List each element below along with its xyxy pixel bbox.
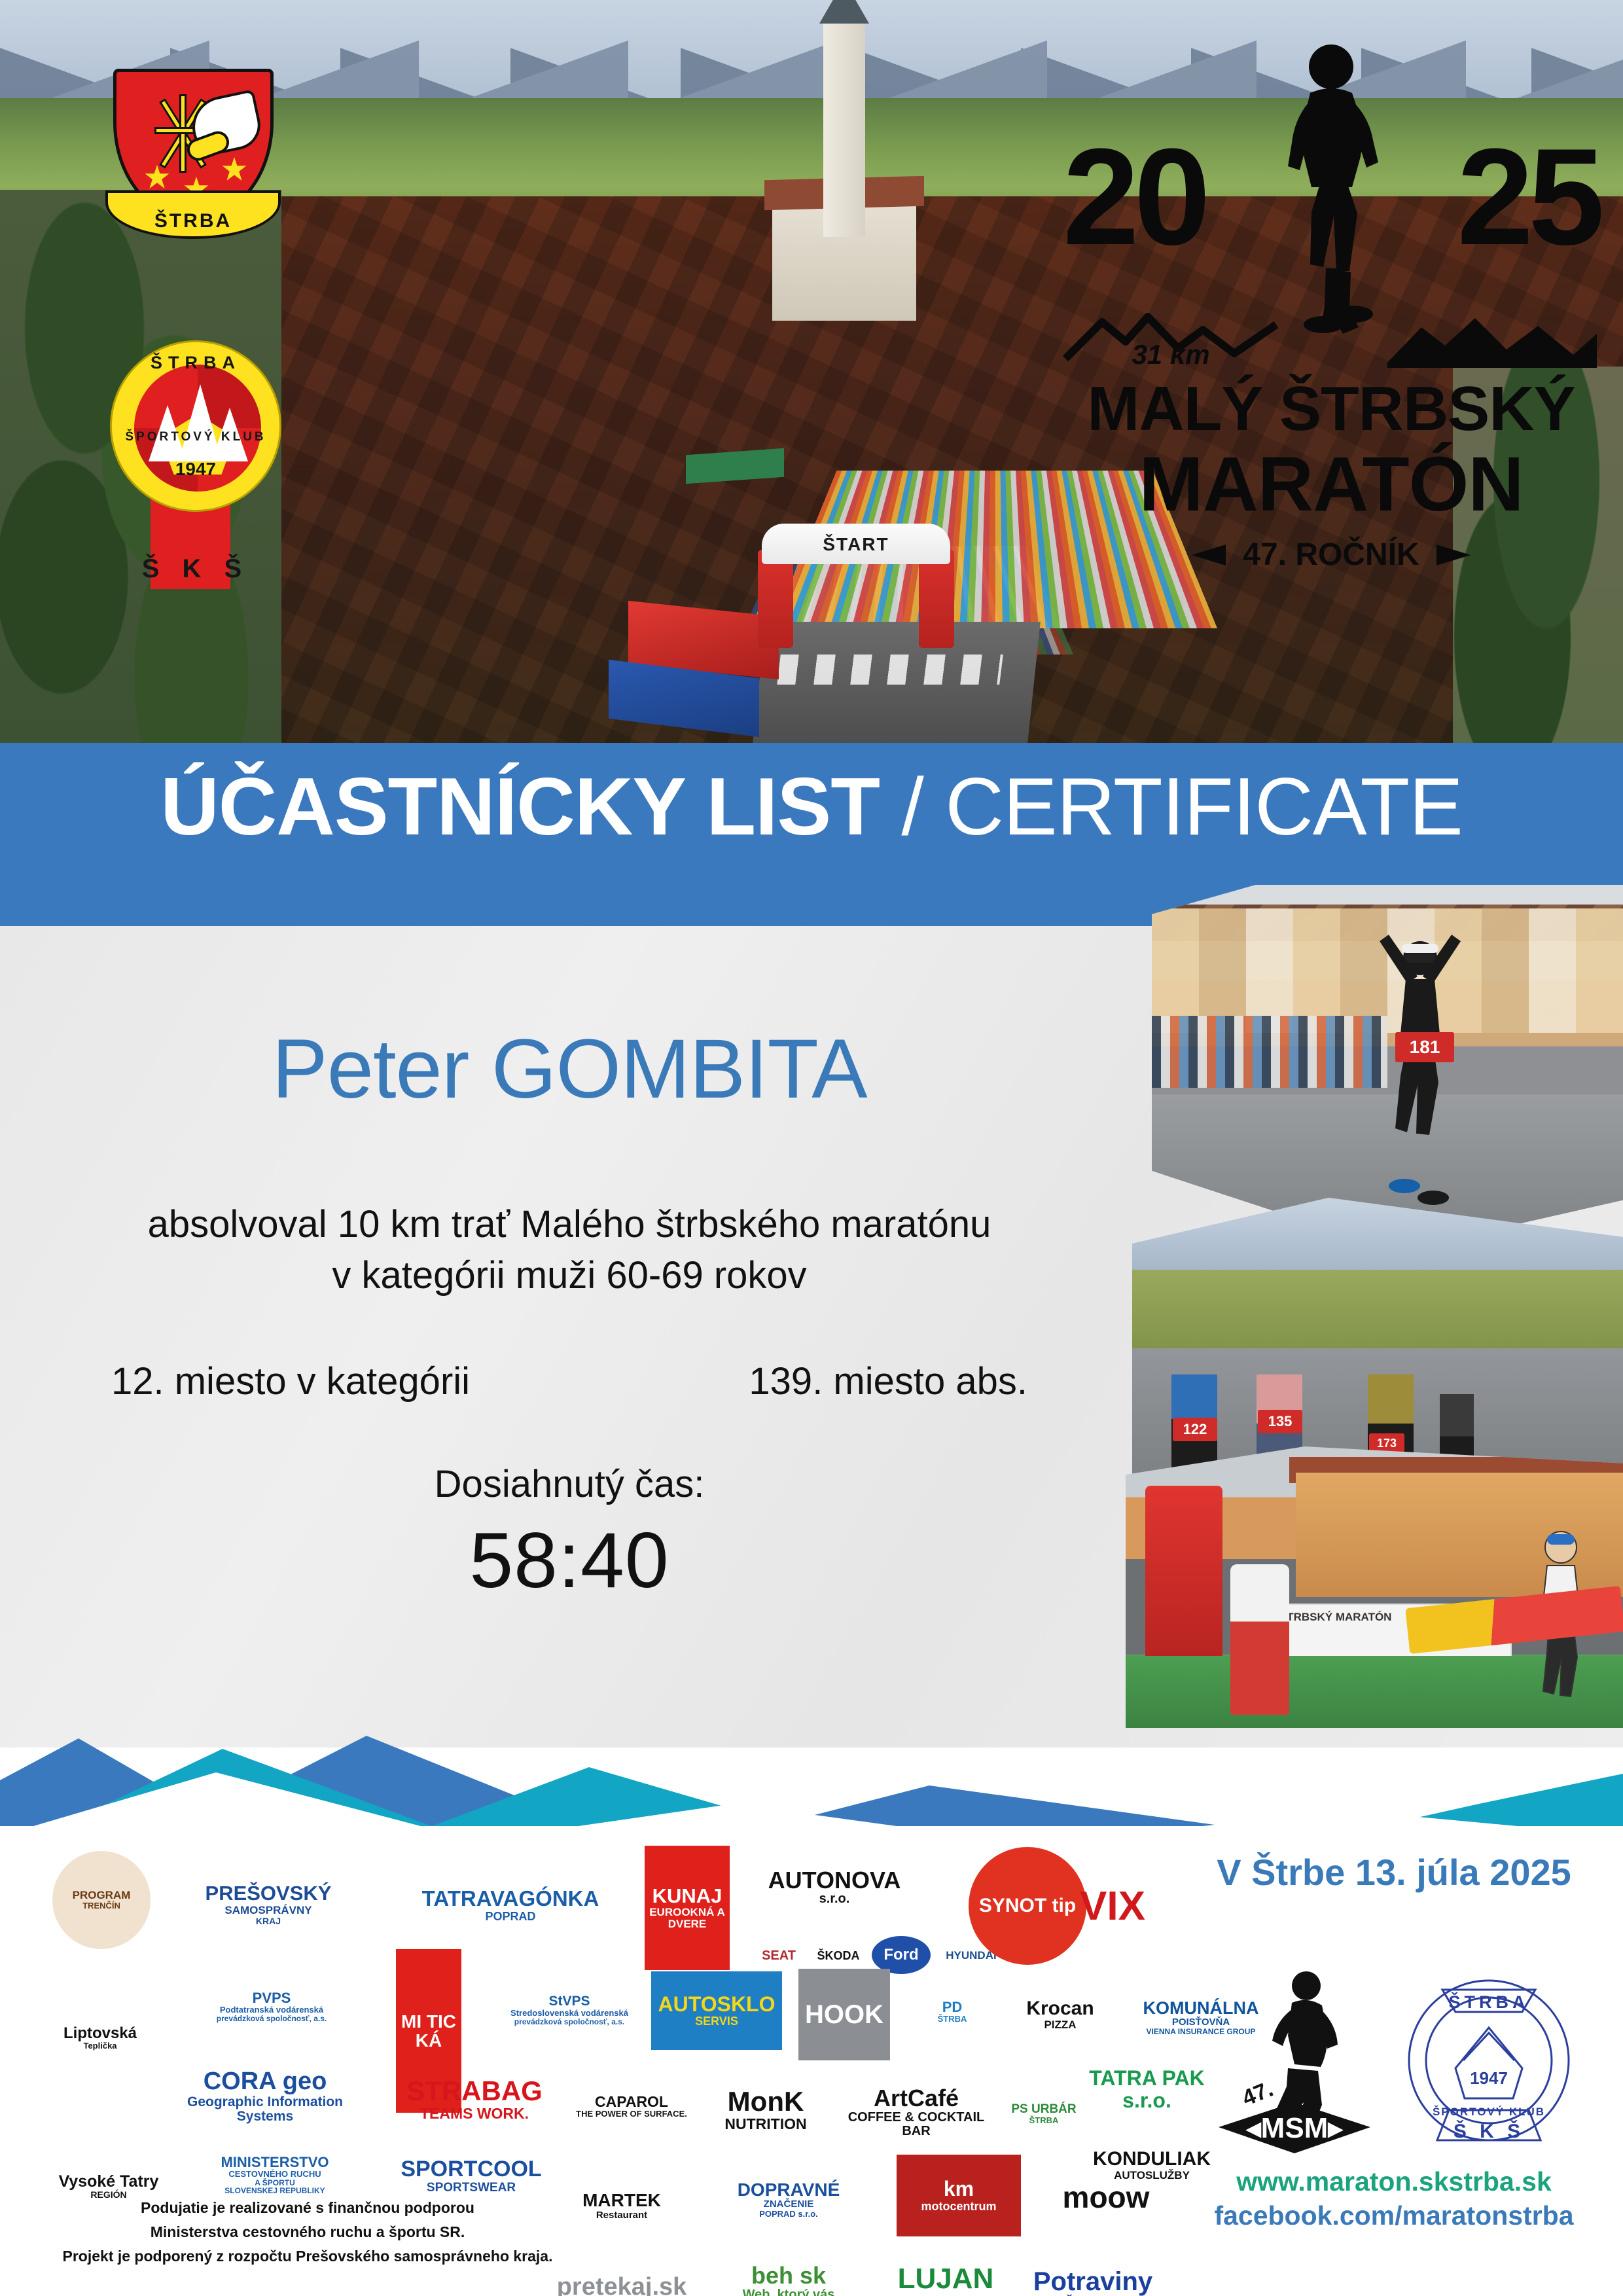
sponsor-line: beh sk [713,2263,864,2288]
sponsor-line: CORA geo [157,2069,373,2095]
sponsor-line: ArtCafé [847,2086,985,2111]
page-title-separator: / [880,762,945,852]
sponsor-logo-vix: VIX [1060,1844,1165,1969]
arch-leg-left [758,550,793,648]
star-icon [221,157,247,183]
sponsor-logo-program-trencin: PROGRAMTRENČÍN [52,1851,151,1949]
event-edition-label: 47. ROČNÍK [1243,537,1419,573]
sponsor-line: EUROOKNÁ A DVERE [645,1907,730,1930]
mountain-divider-shapes [0,1676,1623,1836]
svg-text:47.: 47. [1239,2076,1277,2111]
sponsor-line: CESTOVNÉHO RUCHU [221,2170,329,2179]
runner-bib-number: 122 [1173,1418,1217,1441]
distances: 31 km 10 km [1063,301,1599,380]
sponsor-line: CAPAROL [576,2094,687,2109]
sponsor-logo-monk-nutrition: MonKNUTRITION [700,2067,831,2152]
sponsor-line: motocentrum [921,2200,996,2213]
sponsor-line: km [921,2178,996,2200]
sponsor-line: Vysoké Tatry [59,2173,159,2190]
club-top-text: ŠTRBA [112,353,279,373]
sponsor-line: THE POWER OF SURFACE. [576,2109,687,2119]
sponsor-logo-artcafe: ArtCaféCOFFEE & COCKTAIL BAR [847,2063,985,2161]
arch-top: ŠTART [762,524,950,564]
support-note-line-1: Podujatie je realizované s finančnou pod… [59,2196,556,2220]
sponsor-line: SPORTSWEAR [401,2181,541,2195]
page-title-thin: CERTIFICATE [945,762,1462,852]
sponsor-line: TEAMS WORK. [406,2106,543,2121]
page-title-bold: ÚČASTNÍCKY LIST [160,762,880,852]
club-abbrev: Š K Š [110,554,281,584]
description-line-1: absolvoval 10 km trať Malého štrbského m… [0,1199,1139,1250]
support-note-line-2: Ministerstva cestovného ruchu a športu S… [59,2220,556,2244]
sponsor-logo-hook: HOOK [798,1969,890,2060]
msm-logo-icon: ◂MSM▸ 47. [1216,1964,1373,2153]
sponsor-line: HYUNDAI [946,1950,996,1962]
sponsor-logo-strabag: STRABAGTEAMS WORK. [393,2063,556,2135]
certificate-text-block: Peter GOMBITA absolvoval 10 km trať Malé… [0,926,1139,1605]
sponsor-line: SEAT [762,1949,796,1963]
sponsor-line: STRABAG [406,2077,543,2106]
sponsor-line: ŠKODA [817,1950,859,1962]
certificate-description: absolvoval 10 km trať Malého štrbského m… [0,1199,1139,1300]
sks-club-emblem-icon: ŠTRBA 1947 ŠPORTOVÝ KLUB Š K Š [110,340,281,589]
sponsor-line: AUTONOVA [768,1868,901,1893]
sponsor-line: DOPRAVNÉ [738,2180,840,2199]
sponsor-logo-pd-strba: PDŠTRBA [903,1962,1001,2060]
spectators [1152,1016,1387,1088]
club-bottom-text: ŠPORTOVÝ KLUB [112,430,279,444]
crosswalk [777,655,1003,685]
event-edition: 47. ROČNÍK [1063,537,1599,573]
sponsor-line: NUTRITION [724,2116,806,2132]
sponsor-logo-krocan-pizza: KrocanPIZZA [1008,1962,1113,2067]
sponsor-line: Ford [883,1946,918,1963]
svg-text:◂MSM▸: ◂MSM▸ [1245,2112,1344,2144]
website-link[interactable]: www.maraton.skstrba.sk [1185,2166,1603,2197]
sponsor-line: SERVIS [658,2015,776,2028]
photo-finish-runner: 181 [1152,885,1623,1251]
time-label: Dosiahnutý čas: [0,1462,1139,1506]
sponsor-line: PVPS [217,1990,327,2005]
sponsor-line: MINISTERSTVO [221,2155,329,2170]
svg-text:1947: 1947 [1470,2068,1508,2088]
sponsor-logo-corageo: CORA geoGeographic Information Systems [157,2060,373,2132]
sponsor-line: prevádzková spoločnosť, a.s. [217,2015,327,2023]
sponsor-line: PROGRAM [73,1890,131,1901]
sponsor-logo-autonova: AUTONOVAs.r.o. [749,1851,919,1923]
description-line-2: v kategórii muži 60-69 rokov [0,1250,1139,1301]
club-stamp-icon: ŠTRBA 1947 ŠPORTOVÝ KLUB Š K Š [1400,1964,1577,2153]
sponsor-line: PREŠOVSKÝ [205,1883,332,1905]
distance-long-label: 31 km [1132,339,1209,370]
start-label: ŠTART [762,534,950,555]
svg-text:ŠTRBA: ŠTRBA [1449,1992,1529,2012]
crest-ribbon: ŠTRBA [105,190,281,239]
place-category: 12. miesto v kategórii [111,1359,470,1403]
start-arch: ŠTART [758,524,954,648]
facebook-link[interactable]: facebook.com/maratonstrba [1185,2200,1603,2231]
photo-collage: 181 122 135 173 MALÝ ŠTRBSKÝ MARATÓN [1126,870,1623,1734]
sponsor-logo-liptovska-teplicka: LiptovskáTeplička [51,1962,149,2113]
runner-bib-number: 181 [1395,1032,1454,1062]
sponsor-logo-km-motocentrum: kmmotocentrum [897,2155,1021,2236]
sponsor-line: TATRAVAGÓNKA [422,1888,599,1910]
footer: PROGRAMTRENČÍNPREŠOVSKÝSAMOSPRÁVNYKRAJTA… [0,1826,1623,2296]
place-absolute: 139. miesto abs. [749,1359,1027,1403]
triangle-left-icon [1192,545,1226,565]
sponsor-logo-martek: MARTEKRestaurant [563,2160,681,2251]
star-icon [144,165,170,191]
distance-long-badge: 31 km [1063,308,1279,373]
support-note-line-3: Projekt je podporený z rozpočtu Prešovsk… [59,2244,556,2269]
runner-bib-number: 135 [1258,1410,1302,1433]
distance-short-badge: 10 km [1383,308,1599,373]
sponsor-line: pretekaj.sk [557,2274,687,2296]
sponsor-line: MARTEK [582,2191,661,2210]
sponsor-line: Stredoslovenská vodárenská [510,2009,628,2018]
strba-coat-of-arms-icon: ŠTRBA [113,69,274,239]
sponsor-line: MI TIC KÁ [396,2012,461,2051]
event-year-left: 20 [1063,141,1205,253]
participant-name: Peter GOMBITA [0,1021,1139,1117]
sponsor-logo-dopravne-znacenie: DOPRAVNÉZNAČENIEPOPRAD s.r.o. [700,2160,877,2238]
event-date: V Štrbe 13. júla 2025 [1185,1851,1603,1893]
certificate-page: ŠTART ŠTRBA [0,0,1623,2296]
sponsor-logo-moow: moow [1050,2160,1162,2235]
sponsor-line: moow [1063,2181,1150,2213]
sponsor-line: MonK [724,2087,806,2116]
sponsor-line: KRAJ [205,1916,332,1926]
sponsor-line: Restaurant [582,2210,661,2221]
sponsor-line: TRENČÍN [73,1901,131,1910]
support-note: Podujatie je realizované s finančnou pod… [59,2196,556,2268]
sponsor-line: HOOK [805,2001,883,2028]
sponsor-line: PS URBÁR [1011,2103,1076,2116]
church-tower [823,21,865,237]
sponsor-line: POPRAD [422,1910,599,1923]
time-value: 58:40 [0,1515,1139,1605]
grass [1132,1270,1623,1361]
celebrating-runner-icon [1368,924,1472,1206]
event-title-line2: MARATÓN [1063,440,1599,529]
sponsor-line: PD [938,2000,967,2015]
club-year: 1947 [112,459,279,480]
sponsor-line: Podtatranská vodárenská [217,2005,327,2015]
sponsor-logo-kunaj: KUNAJEUROOKNÁ A DVERE [645,1846,730,1970]
sponsor-line: VIX [1080,1885,1145,1928]
sponsor-line: prevádzková spoločnosť, a.s. [510,2018,628,2026]
runner-bib-number: 173 [1369,1433,1404,1453]
sponsor-line: SAMOSPRÁVNY [205,1905,332,1916]
sponsor-line: s.r.o. [768,1892,901,1906]
sponsor-line: KUNAJ [645,1886,730,1907]
event-year-right: 25 [1457,141,1599,253]
sponsor-logo-caparol: CAPAROLTHE POWER OF SURFACE. [573,2054,690,2159]
sponsor-logo-lujan-plus: LUJANPlus s.r.o. [880,2248,1011,2296]
sponsor-logo-presovsky-kraj: PREŠOVSKÝSAMOSPRÁVNYKRAJ [170,1865,366,1944]
sponsor-logo-pvps: PVPSPodtatranská vodárenskáprevádzková s… [164,1967,380,2046]
svg-text:ŠPORTOVÝ KLUB: ŠPORTOVÝ KLUB [1433,2106,1545,2118]
sponsor-line: Liptovská [63,2025,137,2041]
page-title: ÚČASTNÍCKY LIST / CERTIFICATE [0,766,1623,848]
event-logo: 20 25 31 km [1063,39,1599,589]
emblem-circle: ŠTRBA 1947 ŠPORTOVÝ KLUB [110,340,281,512]
sponsor-line: POPRAD s.r.o. [738,2210,840,2219]
sponsor-logo-grid: PROGRAMTRENČÍNPREŠOVSKÝSAMOSPRÁVNYKRAJTA… [39,1833,1165,2251]
sponsor-line: SLOVENSKEJ REPUBLIKY [221,2187,329,2195]
footer-right-block: V Štrbe 13. júla 2025 ◂MSM▸ 47. [1185,1826,1603,2284]
arch-leg-right [919,550,954,648]
sponsor-line: AUTOSKLO [658,1994,776,2016]
sponsor-line: Web, ktorý vás rozbehne [713,2288,864,2296]
sponsor-line: Potraviny [1033,2268,1152,2295]
mountain-divider [0,1676,1623,1836]
sponsor-line: ŠTRBA [1011,2116,1076,2125]
sponsor-logo-autosklo-servis: AUTOSKLOSERVIS [651,1971,782,2050]
sponsor-line: Krocan [1026,1998,1094,2019]
sponsor-logo-pretekaj-sk: pretekaj.sk [543,2255,700,2296]
sponsor-line: COFFEE & COCKTAIL BAR [847,2111,985,2138]
triangle-right-icon [1436,545,1471,565]
sponsor-line: ZNAČENIE [738,2199,840,2210]
crest-municipality-name: ŠTRBA [154,210,232,236]
sponsor-line: PIZZA [1026,2019,1094,2031]
sponsor-line: StVPS [510,1994,628,2009]
placements: 12. miesto v kategórii 139. miesto abs. [0,1359,1139,1403]
distance-short-label: 10 km [1452,339,1530,370]
sponsor-logo-tatravagonka: TATRAVAGÓNKAPOPRAD [402,1867,618,1944]
sponsor-logo-potraviny-serfel: PotravinyŠERFEL [1021,2251,1165,2296]
sponsor-line: LUJAN [898,2264,994,2294]
svg-text:Š K Š: Š K Š [1454,2120,1524,2142]
sponsor-logo-beh-sk: beh skWeb, ktorý vás rozbehne [713,2257,864,2296]
mountain-peaks-icon [146,376,249,461]
sponsor-line: ŠTRBA [938,2015,967,2024]
sponsor-logo-stvps: StVPSStredoslovenská vodárenskáprevádzko… [474,1967,664,2053]
sponsor-line: Teplička [63,2041,137,2051]
event-title-line1: MALÝ ŠTRBSKÝ [1063,373,1599,445]
sponsor-line: SPORTCOOL [401,2158,541,2181]
sponsor-line: Geographic Information Systems [157,2095,373,2124]
